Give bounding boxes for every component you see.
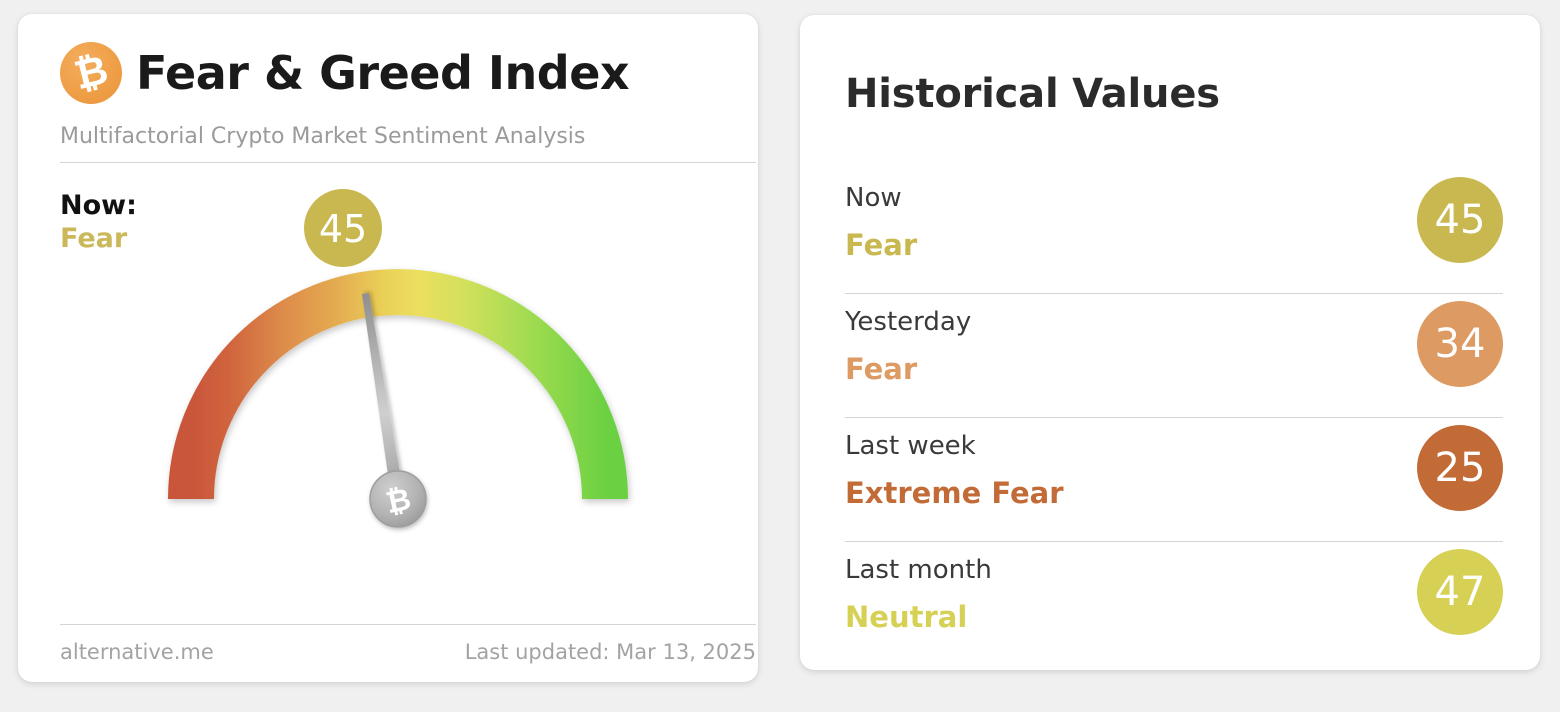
gauge-card-footer: alternative.me Last updated: Mar 13, 202… xyxy=(60,640,756,664)
bitcoin-icon: ₿ xyxy=(60,42,122,104)
gauge-hub: ₿ xyxy=(370,471,426,527)
gauge-card-header: ₿ Fear & Greed Index xyxy=(60,42,629,104)
historical-values-list: NowFear45YesterdayFear34Last weekExtreme… xyxy=(845,170,1503,666)
last-updated-text: Last updated: Mar 13, 2025 xyxy=(465,640,756,664)
gauge-value-badge: 45 xyxy=(304,189,382,267)
historical-values-card: Historical Values NowFear45YesterdayFear… xyxy=(800,15,1540,670)
history-row-badge: 47 xyxy=(1417,549,1503,635)
history-row-sentiment: Neutral xyxy=(845,600,967,634)
page-subtitle: Multifactorial Crypto Market Sentiment A… xyxy=(60,124,585,149)
history-row-label: Last week xyxy=(845,431,976,461)
history-row-sentiment: Extreme Fear xyxy=(845,476,1064,510)
history-row-label: Last month xyxy=(845,555,992,585)
gauge-value-label: 45 xyxy=(319,207,367,251)
history-row-label: Yesterday xyxy=(845,307,971,337)
history-row-badge: 25 xyxy=(1417,425,1503,511)
fear-greed-gauge: ₿ 45 xyxy=(18,180,758,610)
history-row-sentiment: Fear xyxy=(845,352,917,386)
history-row: Last weekExtreme Fear25 xyxy=(845,418,1503,542)
historical-values-title: Historical Values xyxy=(845,71,1220,117)
history-row: YesterdayFear34 xyxy=(845,294,1503,418)
page-title: Fear & Greed Index xyxy=(136,46,629,100)
history-row-sentiment: Fear xyxy=(845,228,917,262)
bitcoin-glyph: ₿ xyxy=(70,50,111,97)
gauge-needle xyxy=(359,293,404,500)
history-row-badge: 45 xyxy=(1417,177,1503,263)
footer-divider xyxy=(60,624,756,625)
history-row-label: Now xyxy=(845,183,902,213)
source-link[interactable]: alternative.me xyxy=(60,640,214,664)
header-divider xyxy=(60,162,756,163)
history-row: NowFear45 xyxy=(845,170,1503,294)
history-row: Last monthNeutral47 xyxy=(845,542,1503,666)
fear-greed-gauge-card: ₿ Fear & Greed Index Multifactorial Cryp… xyxy=(18,14,758,682)
history-row-badge: 34 xyxy=(1417,301,1503,387)
